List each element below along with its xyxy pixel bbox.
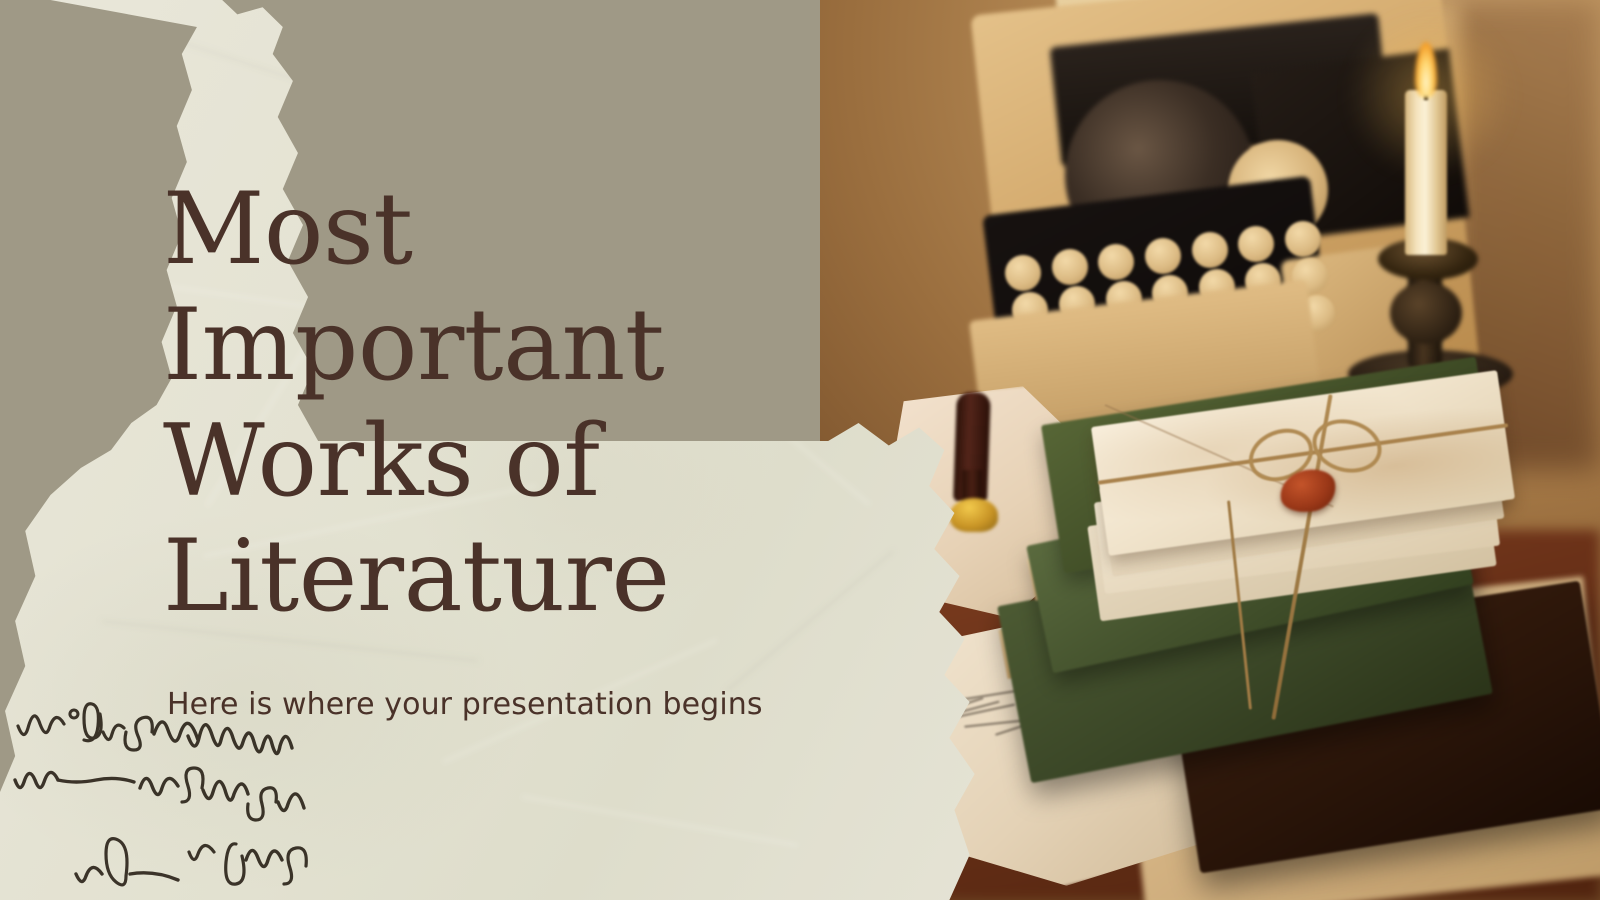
typewriter-key <box>1098 244 1134 280</box>
typewriter-key <box>1145 238 1181 274</box>
page-title: Most Important Works of Literature <box>163 172 933 635</box>
wax-seal-stamp-brass-base <box>950 498 998 532</box>
candlestick-knop <box>1390 282 1462 344</box>
typewriter-key <box>1285 221 1321 257</box>
typewriter-key <box>1052 249 1088 285</box>
candle-wax <box>1405 90 1447 255</box>
paper-crease <box>522 796 798 847</box>
handwriting-decoration <box>0 690 310 900</box>
typewriter-key <box>1192 232 1228 268</box>
presentation-slide: Most Important Works of Literature Here … <box>0 0 1600 900</box>
title-block: Most Important Works of Literature Here … <box>163 172 933 722</box>
typewriter-key <box>1005 255 1041 291</box>
